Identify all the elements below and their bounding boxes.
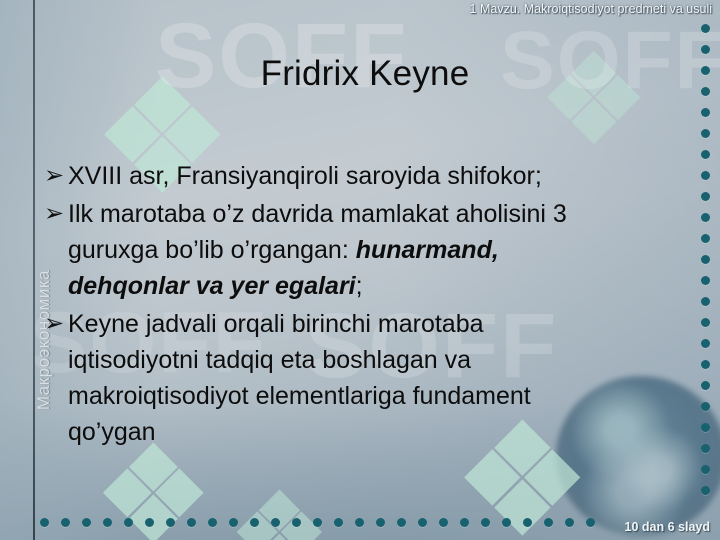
rail-dot — [271, 518, 280, 527]
rail-dot — [376, 518, 385, 527]
rail-dot — [334, 518, 343, 527]
presentation-slide: ❖ ❖ ❖ ❖ ❖ SOFF SOFF SOFF SOFF Макроэконо… — [0, 0, 720, 540]
bullet-line: makroiqtisodiyot elementlariga fundament — [68, 378, 694, 414]
bullet-text: Ilk marotaba o’z davrida mamlakat aholis… — [68, 196, 694, 304]
rail-dot — [701, 45, 710, 54]
rail-dot — [145, 518, 154, 527]
rail-dot — [701, 234, 710, 243]
rail-dot — [103, 518, 112, 527]
rail-dot — [355, 518, 364, 527]
rail-dot — [481, 518, 490, 527]
bullet-text: XVIII asr, Fransiyanqiroli saroyida shif… — [68, 158, 694, 194]
bullet-span: makroiqtisodiyot elementlariga fundament — [68, 382, 531, 410]
rail-dot — [701, 276, 710, 285]
rail-dot — [292, 518, 301, 527]
bullet-list: ➢XVIII asr, Fransiyanqiroli saroyida shi… — [44, 158, 694, 452]
slide-counter: 10 dan 6 slayd — [625, 520, 710, 534]
bullet-emphasis: hunarmand, — [356, 236, 499, 264]
slide-header-topic: 1 Mavzu. Makroiqtisodiyot predmeti va us… — [470, 2, 712, 16]
arrow-bullet-icon: ➢ — [44, 158, 68, 194]
rail-dot — [701, 150, 710, 159]
rail-dot — [701, 339, 710, 348]
bullet-span: Keyne jadvali orqali birinchi marotaba — [68, 310, 484, 338]
rail-dot — [61, 518, 70, 527]
rail-dot — [701, 87, 710, 96]
rail-dot — [701, 66, 710, 75]
bullet-line: guruxga bo’lib o’rgangan: hunarmand, — [68, 232, 694, 268]
rail-dot — [701, 171, 710, 180]
bullet-item: ➢XVIII asr, Fransiyanqiroli saroyida shi… — [44, 158, 694, 194]
bullet-item: ➢Keyne jadvali orqali birinchi marotabai… — [44, 306, 694, 450]
rail-dot — [250, 518, 259, 527]
bullet-emphasis: dehqonlar va yer egalari — [68, 272, 356, 300]
rail-dot — [82, 518, 91, 527]
rail-dot — [502, 518, 511, 527]
bullet-span: Ilk marotaba o’z davrida mamlakat aholis… — [68, 200, 567, 228]
bullet-line: dehqonlar va yer egalari; — [68, 268, 694, 304]
bullet-line: Keyne jadvali orqali birinchi marotaba — [68, 306, 694, 342]
bullet-line: iqtisodiyotni tadqiq eta boshlagan va — [68, 342, 694, 378]
rail-dot — [544, 518, 553, 527]
rail-dot — [701, 192, 710, 201]
rail-dot — [166, 518, 175, 527]
rail-dot — [229, 518, 238, 527]
rail-dot — [565, 518, 574, 527]
rail-dot — [187, 518, 196, 527]
rail-dot — [418, 518, 427, 527]
page-title: Fridrix Keyne — [60, 54, 670, 94]
bullet-line: XVIII asr, Fransiyanqiroli saroyida shif… — [68, 158, 694, 194]
bullet-line: qo’ygan — [68, 414, 694, 450]
rail-dot — [701, 465, 710, 474]
rail-dot — [701, 360, 710, 369]
bullet-item: ➢Ilk marotaba o’z davrida mamlakat aholi… — [44, 196, 694, 304]
bullet-span: ; — [356, 272, 363, 300]
rail-dot — [313, 518, 322, 527]
arrow-bullet-icon: ➢ — [44, 196, 68, 232]
arrow-bullet-icon: ➢ — [44, 306, 68, 342]
bullet-span: qo’ygan — [68, 418, 156, 446]
rail-dot — [523, 518, 532, 527]
bullet-span: guruxga bo’lib o’rgangan: — [68, 236, 356, 264]
bullet-line: Ilk marotaba o’z davrida mamlakat aholis… — [68, 196, 694, 232]
rail-dot — [701, 318, 710, 327]
bullet-span: iqtisodiyotni tadqiq eta boshlagan va — [68, 346, 471, 374]
rail-dot — [124, 518, 133, 527]
rail-dot — [701, 297, 710, 306]
rail-dot — [586, 518, 595, 527]
rail-dot — [439, 518, 448, 527]
rail-dot — [701, 213, 710, 222]
rail-dot — [701, 486, 710, 495]
rail-dot — [701, 24, 710, 33]
rail-dot — [460, 518, 469, 527]
rail-dot — [701, 108, 710, 117]
rail-dot — [701, 381, 710, 390]
rail-dot — [701, 255, 710, 264]
watermark-logo-icon: ❖ — [230, 480, 329, 540]
rail-dot — [701, 402, 710, 411]
rail-dot — [40, 518, 49, 527]
rail-dot — [701, 444, 710, 453]
rail-dot — [701, 129, 710, 138]
bullet-span: XVIII asr, Fransiyanqiroli saroyida shif… — [68, 162, 542, 190]
rail-dot — [701, 423, 710, 432]
rail-dot — [208, 518, 217, 527]
rail-dot — [397, 518, 406, 527]
bullet-text: Keyne jadvali orqali birinchi marotabaiq… — [68, 306, 694, 450]
